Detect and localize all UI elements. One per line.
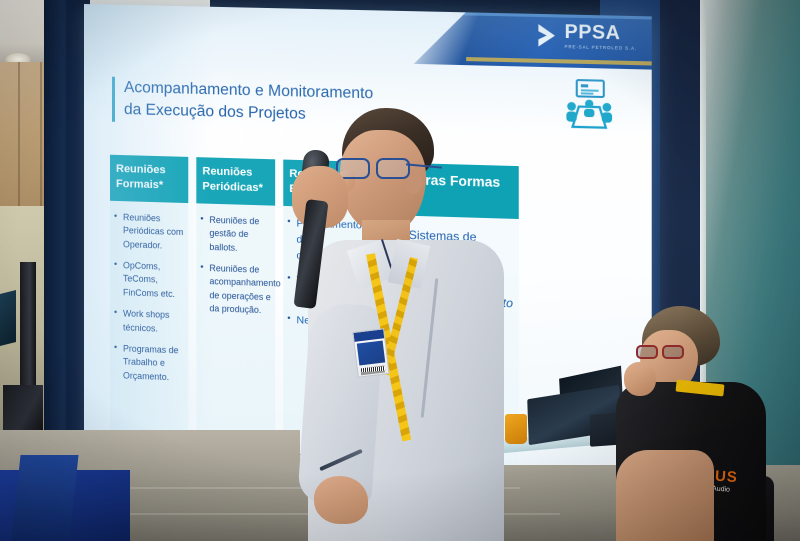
list-item: OpComs, TeComs, FinComs etc.: [114, 259, 184, 301]
brand-name: PPSA: [565, 23, 638, 44]
attendee-shirt-logo-sub: Audio: [712, 485, 730, 493]
list-item: Reuniões de acompanhamento de operações …: [200, 262, 271, 318]
photo-scene: PPSA PRE-SAL PETROLEO S.A. Acompanhament…: [0, 0, 800, 541]
slide-column-reunioes-periodicas: Reuniões Periódicas* Reuniões de gestão …: [196, 157, 275, 464]
list-item: Programas de Trabalho e Orçamento.: [114, 342, 184, 385]
blue-bench-side: [11, 455, 78, 541]
column-header: Reuniões Formais*: [110, 155, 188, 203]
slide-column-reunioes-formais: Reuniões Formais* Reuniões Periódicas co…: [110, 155, 188, 460]
attendee-arm: [616, 450, 714, 541]
attendee-hand: [624, 362, 656, 396]
column-body: Reuniões Periódicas com Operador. OpComs…: [110, 201, 188, 454]
list-item: Reuniões de gestão de ballots.: [200, 214, 271, 257]
column-header: Reuniões Periódicas*: [196, 157, 275, 206]
attendee-glasses: [636, 345, 688, 360]
ppsa-logo: PPSA PRE-SAL PETROLEO S.A.: [537, 22, 637, 51]
speaker-base: [3, 385, 43, 433]
column-body: Reuniões de gestão de ballots. Reuniões …: [196, 203, 275, 457]
presenter-badge: [352, 328, 389, 378]
list-item: Work shops técnicos.: [114, 307, 184, 336]
chevron-icon: [537, 22, 560, 49]
meeting-table-icon: [562, 78, 616, 132]
seated-attendee: SUS Audio: [616, 300, 800, 541]
presenter-glasses: [334, 158, 418, 180]
list-item: Reuniões Periódicas com Operador.: [114, 211, 184, 253]
presenter-hand: [314, 476, 368, 524]
presenter: [300, 108, 510, 541]
side-monitor: [0, 290, 16, 346]
speaker-tower: [20, 262, 36, 397]
